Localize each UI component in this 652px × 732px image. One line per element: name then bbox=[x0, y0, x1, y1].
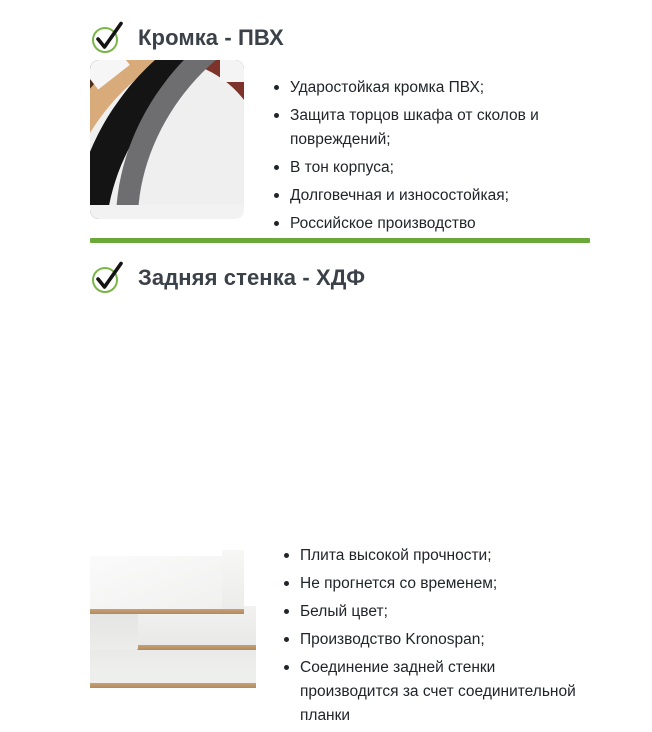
feature-list-back: Плита высокой прочности; Не прогнется со… bbox=[282, 544, 582, 732]
hdf-panel-bottom bbox=[90, 644, 256, 688]
hdf-panel-top bbox=[90, 556, 234, 614]
feature-list-edge: Ударостойкая кромка ПВХ; Защита торцов ш… bbox=[272, 76, 572, 240]
list-item: Долговечная и износостойкая; bbox=[272, 184, 572, 208]
list-item: Защита торцов шкафа от сколов и поврежде… bbox=[272, 104, 572, 152]
pvc-photo-canvas bbox=[90, 60, 244, 219]
hdf-panel-left bbox=[90, 610, 138, 650]
green-divider bbox=[90, 238, 590, 243]
hdf-photo-canvas bbox=[90, 548, 256, 696]
pvc-base-shadow bbox=[90, 205, 244, 219]
list-item: Соединение задней стенки производится за… bbox=[282, 656, 582, 728]
list-item: Не прогнется со временем; bbox=[282, 572, 582, 596]
section-header-edge: Кромка - ПВХ bbox=[90, 18, 284, 58]
section-title-back: Задняя стенка - ХДФ bbox=[138, 265, 365, 291]
pvc-corner-highlight-right bbox=[220, 60, 244, 82]
check-circle-icon bbox=[90, 21, 124, 55]
list-item: Плита высокой прочности; bbox=[282, 544, 582, 568]
list-item: Производство Kronospan; bbox=[282, 628, 582, 652]
hdf-panel-top-cap bbox=[222, 550, 244, 614]
pvc-edge-banding-photo bbox=[90, 60, 244, 219]
list-item: В тон корпуса; bbox=[272, 156, 572, 180]
check-circle-icon bbox=[90, 261, 124, 295]
section-header-back: Задняя стенка - ХДФ bbox=[90, 258, 365, 298]
hdf-boards-photo bbox=[90, 548, 256, 696]
list-item: Ударостойкая кромка ПВХ; bbox=[272, 76, 572, 100]
list-item: Белый цвет; bbox=[282, 600, 582, 624]
section-title-edge: Кромка - ПВХ bbox=[138, 25, 284, 51]
list-item: Российское производство bbox=[272, 212, 572, 236]
